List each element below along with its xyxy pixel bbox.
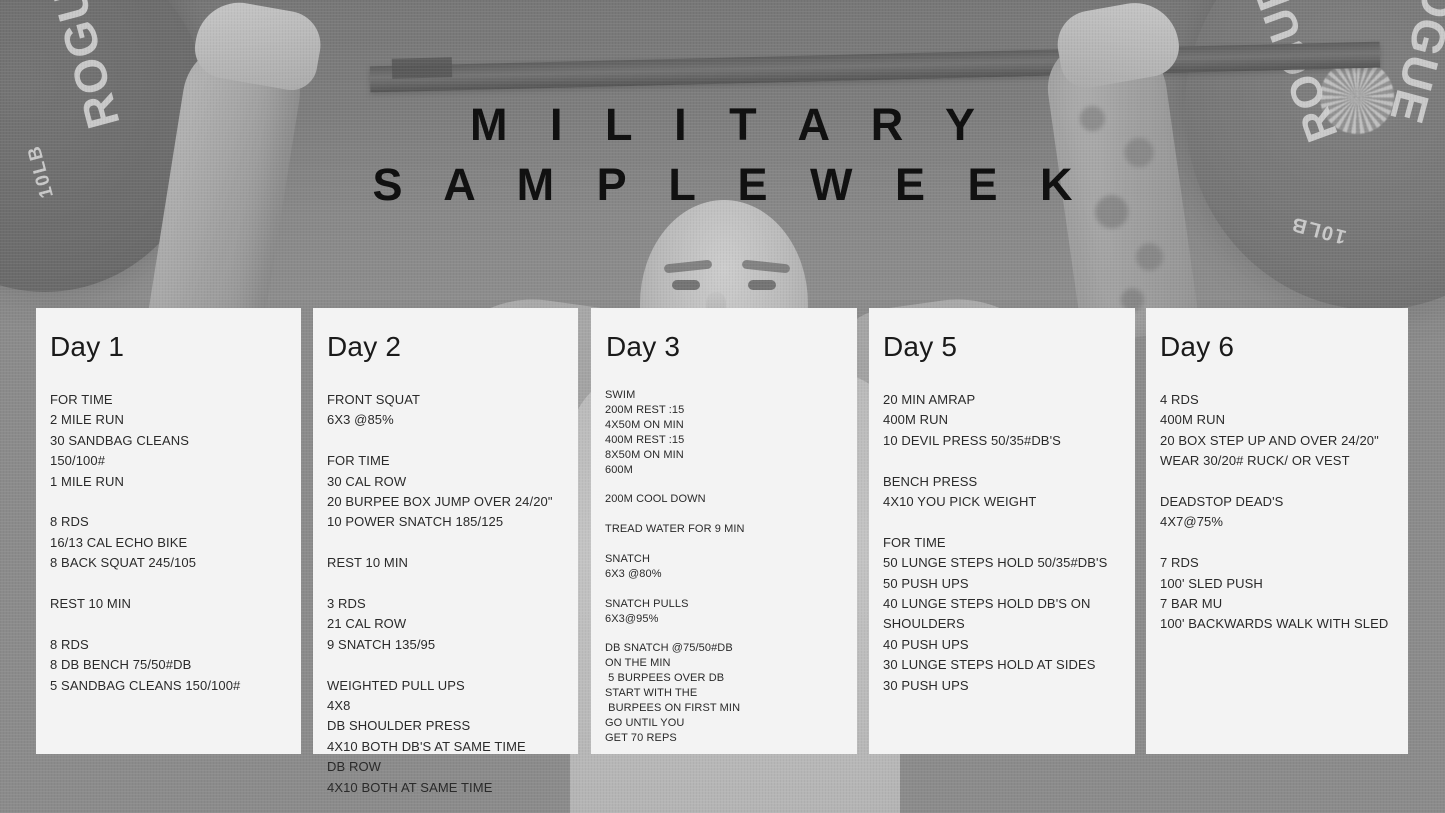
- workout-line: 1 MILE RUN: [50, 472, 291, 492]
- workout-line: [50, 574, 291, 594]
- workout-line: DB SNATCH @75/50#DB: [605, 641, 847, 656]
- workout-line: 4X10 BOTH AT SAME TIME: [327, 778, 568, 798]
- workout-line: [883, 512, 1125, 532]
- day-card-3-title: Day 3: [591, 330, 857, 364]
- workout-line: [327, 574, 568, 594]
- workout-line: 8 RDS: [50, 512, 291, 532]
- workout-line: FOR TIME: [327, 451, 568, 471]
- day-card-6: Day 6 4 RDS400M RUN20 BOX STEP UP AND OV…: [1146, 308, 1408, 754]
- workout-line: 4X8: [327, 696, 568, 716]
- workout-line: 8 RDS: [50, 635, 291, 655]
- day-card-3: Day 3 SWIM200M REST :154X50M ON MIN400M …: [591, 308, 857, 754]
- workout-line: WEAR 30/20# RUCK/ OR VEST: [1160, 451, 1398, 471]
- workout-line: WEIGHTED PULL UPS: [327, 676, 568, 696]
- day-card-1-workout: FOR TIME2 MILE RUN30 SANDBAG CLEANS150/1…: [36, 364, 301, 696]
- workout-line: 21 CAL ROW: [327, 614, 568, 634]
- workout-line: 5 BURPEES OVER DB: [605, 671, 847, 686]
- day-card-1: Day 1 FOR TIME2 MILE RUN30 SANDBAG CLEAN…: [36, 308, 301, 754]
- workout-line: DEADSTOP DEAD'S: [1160, 492, 1398, 512]
- workout-line: 100' BACKWARDS WALK WITH SLED: [1160, 614, 1398, 634]
- workout-line: REST 10 MIN: [327, 553, 568, 573]
- workout-line: 40 LUNGE STEPS HOLD DB'S ON: [883, 594, 1125, 614]
- workout-line: [605, 477, 847, 492]
- workout-line: FOR TIME: [883, 533, 1125, 553]
- workout-line: ON THE MIN: [605, 656, 847, 671]
- workout-line: 200M COOL DOWN: [605, 492, 847, 507]
- day-card-2-title: Day 2: [313, 330, 578, 364]
- workout-line: BENCH PRESS: [883, 472, 1125, 492]
- day-card-2-workout: FRONT SQUAT6X3 @85%FOR TIME30 CAL ROW20 …: [313, 364, 578, 798]
- day-card-3-workout: SWIM200M REST :154X50M ON MIN400M REST :…: [591, 364, 857, 746]
- day-card-2: Day 2 FRONT SQUAT6X3 @85%FOR TIME30 CAL …: [313, 308, 578, 754]
- workout-line: 3 RDS: [327, 594, 568, 614]
- workout-line: 7 RDS: [1160, 553, 1398, 573]
- workout-line: FOR TIME: [50, 390, 291, 410]
- poster-canvas: ROGUE 10LB ROGUE ROGUE 10LB M I L I T A …: [0, 0, 1445, 813]
- workout-line: 16/13 CAL ECHO BIKE: [50, 533, 291, 553]
- workout-line: 2 MILE RUN: [50, 410, 291, 430]
- day-card-6-title: Day 6: [1146, 330, 1408, 364]
- workout-line: 400M RUN: [883, 410, 1125, 430]
- workout-line: 50 LUNGE STEPS HOLD 50/35#DB'S: [883, 553, 1125, 573]
- workout-line: 400M RUN: [1160, 410, 1398, 430]
- workout-line: 6X3 @80%: [605, 567, 847, 582]
- workout-line: SHOULDERS: [883, 614, 1125, 634]
- workout-line: [883, 451, 1125, 471]
- workout-line: [605, 507, 847, 522]
- workout-line: 4X10 YOU PICK WEIGHT: [883, 492, 1125, 512]
- workout-line: 4X10 BOTH DB'S AT SAME TIME: [327, 737, 568, 757]
- workout-line: 150/100#: [50, 451, 291, 471]
- workout-line: SNATCH: [605, 552, 847, 567]
- workout-line: [605, 626, 847, 641]
- day-card-6-workout: 4 RDS400M RUN20 BOX STEP UP AND OVER 24/…: [1146, 364, 1408, 635]
- workout-line: [327, 533, 568, 553]
- workout-line: [50, 492, 291, 512]
- workout-line: FRONT SQUAT: [327, 390, 568, 410]
- workout-line: [327, 431, 568, 451]
- workout-line: REST 10 MIN: [50, 594, 291, 614]
- workout-line: [605, 582, 847, 597]
- workout-line: 8 DB BENCH 75/50#DB: [50, 655, 291, 675]
- day-card-grid: Day 1 FOR TIME2 MILE RUN30 SANDBAG CLEAN…: [0, 0, 1445, 813]
- workout-line: 4 RDS: [1160, 390, 1398, 410]
- workout-line: [605, 537, 847, 552]
- workout-line: 6X3@95%: [605, 612, 847, 627]
- workout-line: 100' SLED PUSH: [1160, 574, 1398, 594]
- workout-line: SNATCH PULLS: [605, 597, 847, 612]
- workout-line: 5 SANDBAG CLEANS 150/100#: [50, 676, 291, 696]
- workout-line: 10 POWER SNATCH 185/125: [327, 512, 568, 532]
- day-card-5-workout: 20 MIN AMRAP400M RUN10 DEVIL PRESS 50/35…: [869, 364, 1135, 696]
- workout-line: [327, 655, 568, 675]
- workout-line: 6X3 @85%: [327, 410, 568, 430]
- workout-line: 30 PUSH UPS: [883, 676, 1125, 696]
- workout-line: 400M REST :15: [605, 433, 847, 448]
- workout-line: 7 BAR MU: [1160, 594, 1398, 614]
- workout-line: 40 PUSH UPS: [883, 635, 1125, 655]
- workout-line: 8X50M ON MIN: [605, 448, 847, 463]
- workout-line: [1160, 472, 1398, 492]
- workout-line: 50 PUSH UPS: [883, 574, 1125, 594]
- workout-line: DB SHOULDER PRESS: [327, 716, 568, 736]
- workout-line: GO UNTIL YOU: [605, 716, 847, 731]
- workout-line: SWIM: [605, 388, 847, 403]
- workout-line: 600M: [605, 463, 847, 478]
- workout-line: 20 MIN AMRAP: [883, 390, 1125, 410]
- day-card-1-title: Day 1: [36, 330, 301, 364]
- workout-line: 30 LUNGE STEPS HOLD AT SIDES: [883, 655, 1125, 675]
- workout-line: 30 CAL ROW: [327, 472, 568, 492]
- workout-line: 20 BOX STEP UP AND OVER 24/20": [1160, 431, 1398, 451]
- workout-line: 200M REST :15: [605, 403, 847, 418]
- workout-line: DB ROW: [327, 757, 568, 777]
- workout-line: TREAD WATER FOR 9 MIN: [605, 522, 847, 537]
- workout-line: [1160, 533, 1398, 553]
- workout-line: 4X7@75%: [1160, 512, 1398, 532]
- day-card-5: Day 5 20 MIN AMRAP400M RUN10 DEVIL PRESS…: [869, 308, 1135, 754]
- workout-line: BURPEES ON FIRST MIN: [605, 701, 847, 716]
- workout-line: 30 SANDBAG CLEANS: [50, 431, 291, 451]
- day-card-5-title: Day 5: [869, 330, 1135, 364]
- workout-line: 8 BACK SQUAT 245/105: [50, 553, 291, 573]
- workout-line: START WITH THE: [605, 686, 847, 701]
- workout-line: GET 70 REPS: [605, 731, 847, 746]
- workout-line: [50, 614, 291, 634]
- workout-line: 10 DEVIL PRESS 50/35#DB'S: [883, 431, 1125, 451]
- workout-line: 9 SNATCH 135/95: [327, 635, 568, 655]
- workout-line: 20 BURPEE BOX JUMP OVER 24/20": [327, 492, 568, 512]
- workout-line: 4X50M ON MIN: [605, 418, 847, 433]
